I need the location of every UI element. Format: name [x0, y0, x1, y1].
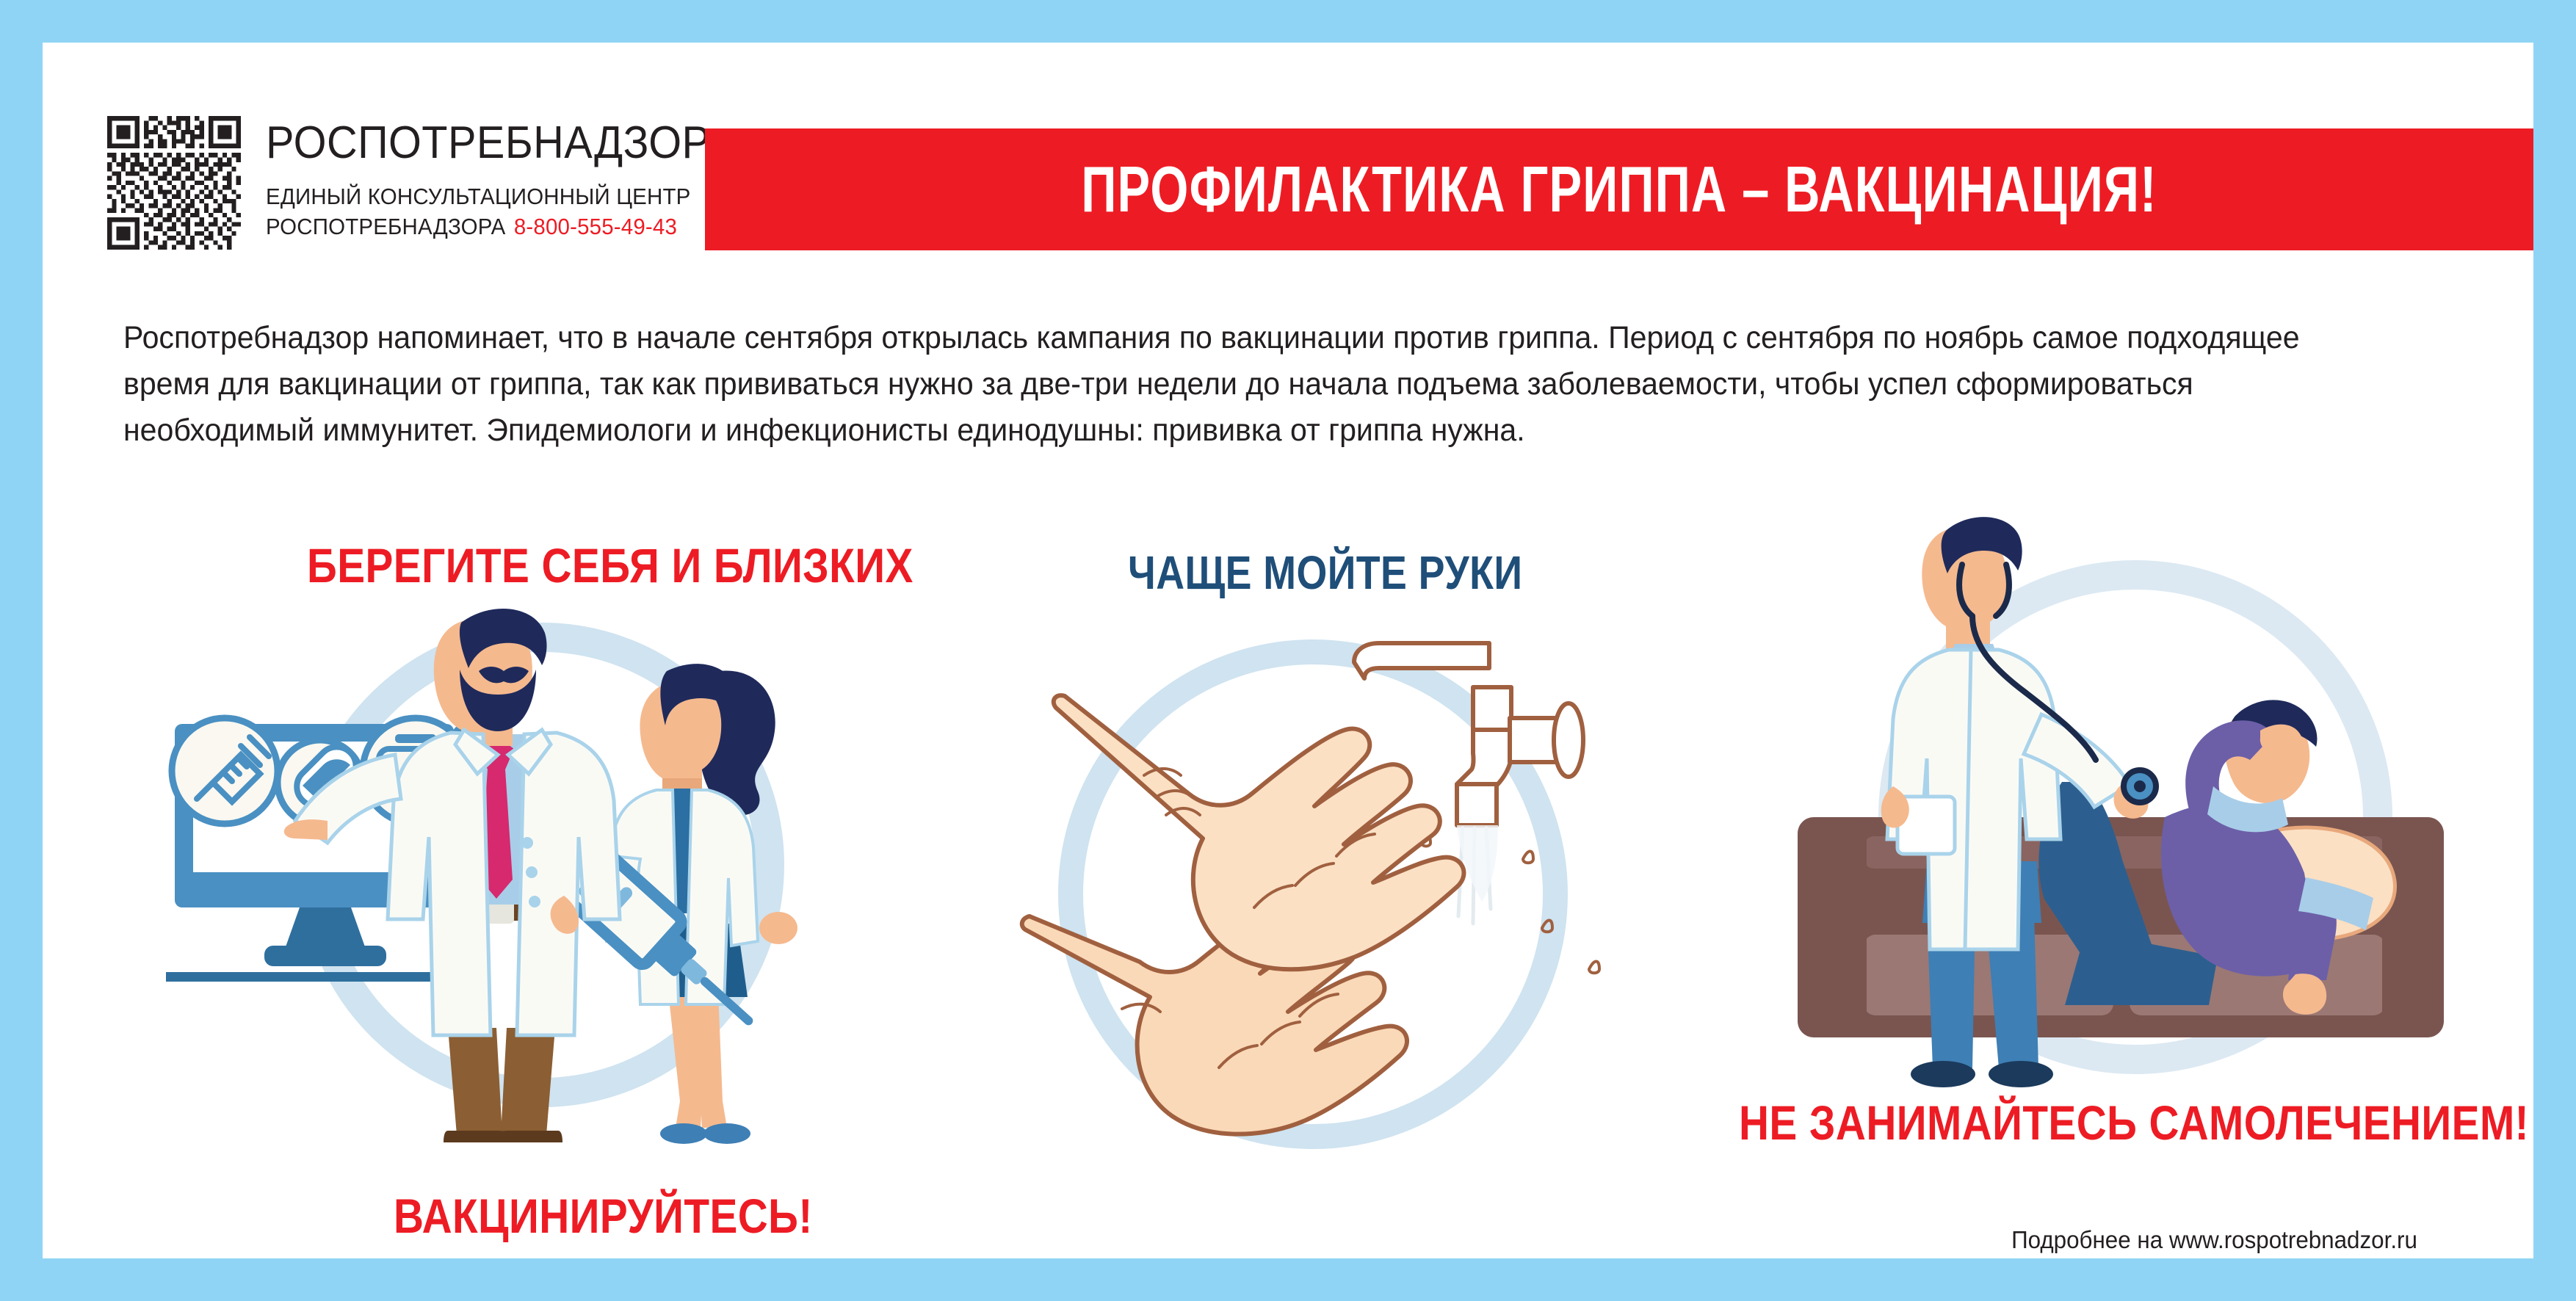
- syringe-icon: [172, 718, 278, 824]
- consultation-center-line2: РОСПОТРЕБНАДЗОРА8-800-555-49-43: [266, 212, 720, 242]
- panel-heading-self-medication: НЕ ЗАНИМАЙТЕСЬ САМОЛЕЧЕНИЕМ!: [1739, 1098, 2529, 1147]
- upper-hand: [1054, 695, 1464, 969]
- organization-name: РОСПОТРЕБНАДЗОР: [266, 120, 710, 166]
- qr-code-icon: [107, 116, 241, 250]
- poster-root: РОСПОТРЕБНАДЗОР ЕДИНЫЙ КОНСУЛЬТАЦИОННЫЙ …: [0, 0, 2576, 1301]
- intro-paragraph: Роспотребнадзор напоминает, что в начале…: [123, 315, 2392, 453]
- consultation-center-label: РОСПОТРЕБНАДЗОРА: [266, 214, 505, 239]
- washing-hands-under-faucet-illustration: [1019, 601, 1621, 1181]
- footer-website-note[interactable]: Подробнее на www.rospotrebnadzor.ru: [2011, 1226, 2417, 1254]
- doctors-with-syringe-illustration: [153, 579, 931, 1166]
- panel-heading-handwashing: ЧАЩЕ МОЙТЕ РУКИ: [1128, 549, 1522, 596]
- rospotrebnadzor-logo-block: РОСПОТРЕБНАДЗОР ЕДИНЫЙ КОНСУЛЬТАЦИОННЫЙ …: [107, 116, 744, 250]
- logo-text-block: РОСПОТРЕБНАДЗОР ЕДИНЫЙ КОНСУЛЬТАЦИОННЫЙ …: [266, 116, 744, 242]
- doctor-examining-patient-on-couch-illustration: [1754, 494, 2488, 1111]
- consultation-center-line1: ЕДИНЫЙ КОНСУЛЬТАЦИОННЫЙ ЦЕНТР: [266, 182, 720, 212]
- hotline-phone-number[interactable]: 8-800-555-49-43: [514, 214, 677, 239]
- banner-title-text: ПРОФИЛАКТИКА ГРИППА – ВАКЦИНАЦИЯ!: [1081, 157, 2157, 222]
- panel-caption-vaccinate: ВАКЦИНИРУЙТЕСЬ!: [394, 1192, 813, 1240]
- poster-content-area: РОСПОТРЕБНАДЗОР ЕДИНЫЙ КОНСУЛЬТАЦИОННЫЙ …: [43, 43, 2533, 1258]
- main-title-banner: ПРОФИЛАКТИКА ГРИППА – ВАКЦИНАЦИЯ!: [705, 128, 2533, 250]
